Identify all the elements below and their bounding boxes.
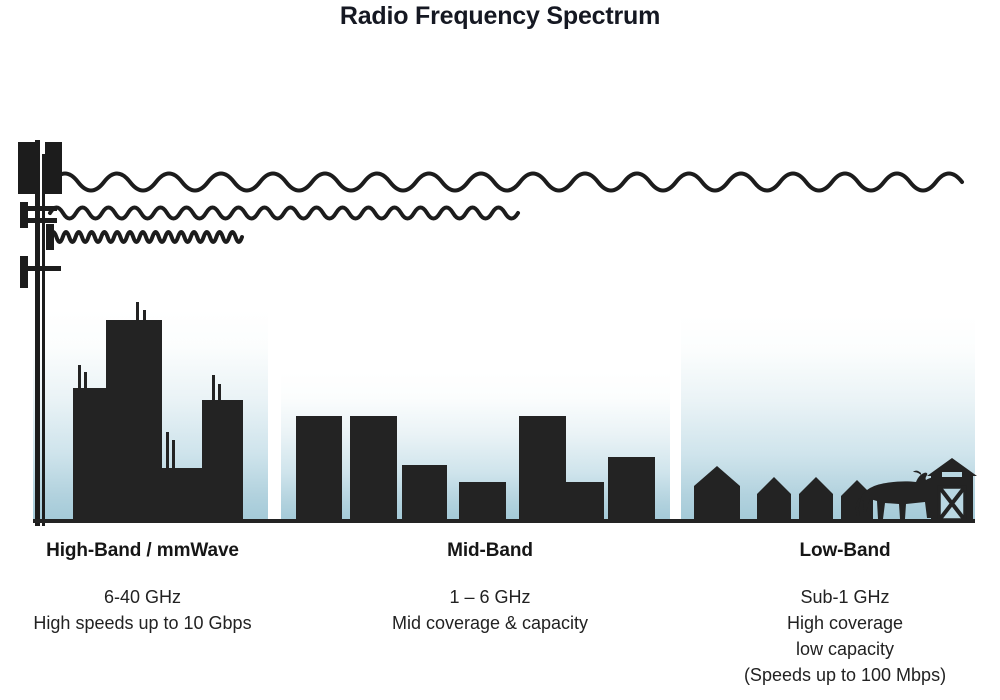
tower-mast — [35, 140, 40, 526]
antenna-panel-lower — [20, 256, 28, 288]
antenna-panel-large-left — [18, 142, 35, 194]
band-detail-low-band-1: High coverage — [690, 610, 1000, 636]
sky-gradient — [681, 315, 975, 520]
high-band-wave — [50, 232, 242, 242]
band-frequency-mid-band: 1 – 6 GHz — [330, 584, 650, 610]
antenna-panel-large-right — [45, 142, 62, 194]
antenna-crossbar — [28, 218, 57, 223]
band-captions: High-Band / mmWave 6-40 GHz High speeds … — [0, 540, 1000, 700]
band-detail-low-band-3: (Speeds up to 100 Mbps) — [690, 662, 1000, 688]
infographic-canvas: Radio Frequency Spectrum — [0, 0, 1000, 700]
band-column-low-band: Low-Band Sub-1 GHz High coverage low cap… — [690, 540, 1000, 688]
sky-gradient — [281, 372, 670, 520]
band-frequency-low-band: Sub-1 GHz — [690, 584, 1000, 610]
band-column-mid-band: Mid-Band 1 – 6 GHz Mid coverage & capaci… — [330, 540, 650, 636]
band-detail-mid-band: Mid coverage & capacity — [330, 610, 650, 636]
band-detail-high-band: High speeds up to 10 Gbps — [0, 610, 285, 636]
cell-tower — [14, 136, 74, 526]
radio-waves-layer — [50, 174, 962, 243]
antenna-panel-small — [46, 224, 54, 250]
band-frequency-high-band: 6-40 GHz — [0, 584, 285, 610]
sky-panel-low-band — [681, 315, 975, 520]
antenna-crossbar-lower — [28, 266, 61, 271]
mid-band-wave — [50, 208, 518, 219]
band-title-mid-band: Mid-Band — [330, 540, 650, 562]
spectrum-scene — [0, 120, 1000, 530]
band-detail-low-band-2: low capacity — [690, 636, 1000, 662]
band-title-high-band: High-Band / mmWave — [0, 540, 285, 562]
page-title: Radio Frequency Spectrum — [0, 2, 1000, 31]
antenna-crossbar — [28, 206, 57, 211]
band-column-high-band: High-Band / mmWave 6-40 GHz High speeds … — [0, 540, 285, 636]
antenna-panel-medium — [20, 202, 28, 228]
ground-line — [33, 519, 975, 523]
band-title-low-band: Low-Band — [690, 540, 1000, 562]
sky-panel-mid-band — [281, 372, 670, 520]
low-band-wave — [52, 174, 962, 191]
